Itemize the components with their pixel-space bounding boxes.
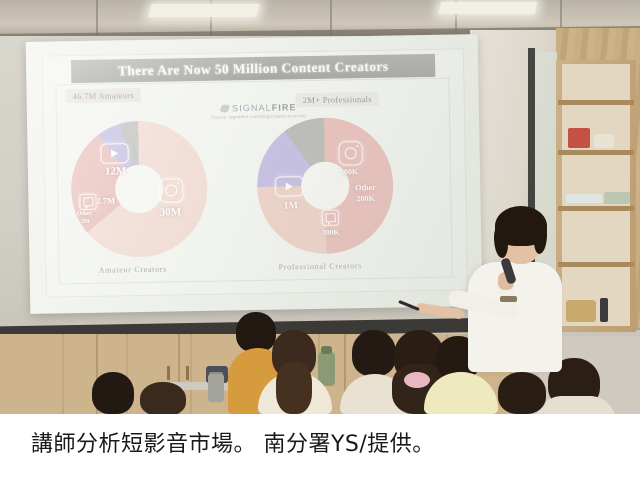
ceiling-light <box>148 4 260 17</box>
shelf-board <box>558 150 634 155</box>
water-bottle <box>318 352 335 386</box>
hair-scrunchie <box>404 372 430 388</box>
wristwatch <box>500 296 517 302</box>
cabinet-handle <box>167 366 170 380</box>
shelf-basket <box>566 300 596 322</box>
audience-body <box>536 396 616 414</box>
shelf-box-white <box>594 134 614 148</box>
cabinet-handle <box>186 366 189 380</box>
shelf-box-red <box>568 128 590 148</box>
shelf-bottle <box>600 298 608 322</box>
shelf-tray <box>566 194 602 203</box>
bottle-cap <box>321 346 332 354</box>
projection-screen: There Are Now 50 Million Content Creator… <box>26 34 483 314</box>
shelf-item-green <box>604 192 630 204</box>
audience-head <box>92 372 134 414</box>
audience-head <box>140 382 186 414</box>
audience-head <box>236 312 276 352</box>
shelf-board <box>558 262 634 267</box>
screenshot-root: There Are Now 50 Million Content Creator… <box>0 0 640 477</box>
caption-bar: 講師分析短影音市場。 南分署YS/提供。 <box>0 414 640 477</box>
audience-head <box>498 372 546 414</box>
shelf-board <box>558 206 634 211</box>
lecture-photo: There Are Now 50 Million Content Creator… <box>0 0 640 414</box>
screen-glare <box>26 34 483 314</box>
caption-text: 講師分析短影音市場。 南分署YS/提供。 <box>31 426 435 458</box>
shelf-board <box>558 100 634 105</box>
audience-head <box>352 330 396 376</box>
audience-hair <box>276 362 312 414</box>
coffee-cup <box>208 374 224 402</box>
presenter-hair-left <box>494 224 508 258</box>
ceiling-light <box>439 2 538 14</box>
